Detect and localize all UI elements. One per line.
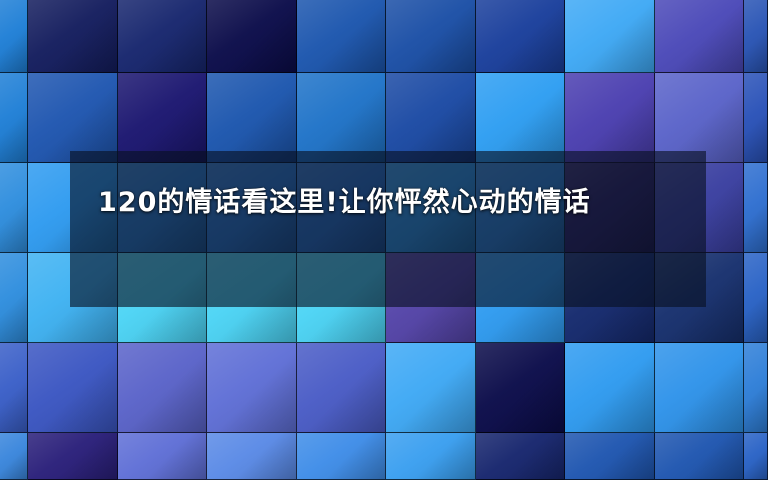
- mosaic-tile: [118, 433, 208, 480]
- mosaic-tile: [297, 433, 387, 480]
- mosaic-tile: [655, 343, 745, 433]
- mosaic-tile: [207, 433, 297, 480]
- mosaic-tile: [0, 343, 28, 433]
- mosaic-tile: [118, 73, 208, 163]
- mosaic-tile: [207, 0, 297, 73]
- mosaic-tile: [744, 433, 768, 480]
- mosaic-tile: [297, 343, 387, 433]
- mosaic-tile: [744, 343, 768, 433]
- mosaic-tile: [476, 0, 566, 73]
- mosaic-tile: [0, 433, 28, 480]
- mosaic-tile: [476, 73, 566, 163]
- mosaic-tile: [28, 433, 118, 480]
- mosaic-tile: [386, 433, 476, 480]
- mosaic-tile: [744, 73, 768, 163]
- mosaic-tile: [28, 0, 118, 73]
- mosaic-tile: [386, 0, 476, 73]
- mosaic-tile: [28, 73, 118, 163]
- mosaic-tile: [565, 433, 655, 480]
- mosaic-tile: [744, 253, 768, 343]
- mosaic-tile: [0, 163, 28, 253]
- mosaic-tile: [565, 343, 655, 433]
- mosaic-tile: [476, 343, 566, 433]
- mosaic-tile: [28, 343, 118, 433]
- mosaic-tile: [0, 253, 28, 343]
- mosaic-tile: [744, 163, 768, 253]
- mosaic-tile: [297, 0, 387, 73]
- mosaic-tile: [386, 343, 476, 433]
- mosaic-tile: [744, 0, 768, 73]
- mosaic-tile: [655, 433, 745, 480]
- mosaic-tile: [207, 73, 297, 163]
- title-overlay-panel: 120的情话看这里!让你怦然心动的情话: [70, 151, 706, 307]
- page-title: 120的情话看这里!让你怦然心动的情话: [98, 177, 676, 229]
- mosaic-tile: [118, 343, 208, 433]
- mosaic-tile: [476, 433, 566, 480]
- mosaic-tile: [565, 0, 655, 73]
- title-card-canvas: 120的情话看这里!让你怦然心动的情话: [0, 0, 768, 480]
- mosaic-tile: [655, 73, 745, 163]
- mosaic-tile: [565, 73, 655, 163]
- mosaic-tile: [297, 73, 387, 163]
- mosaic-tile: [0, 0, 28, 73]
- mosaic-tile: [655, 0, 745, 73]
- mosaic-tile: [386, 73, 476, 163]
- mosaic-tile: [118, 0, 208, 73]
- mosaic-tile: [0, 73, 28, 163]
- mosaic-tile: [207, 343, 297, 433]
